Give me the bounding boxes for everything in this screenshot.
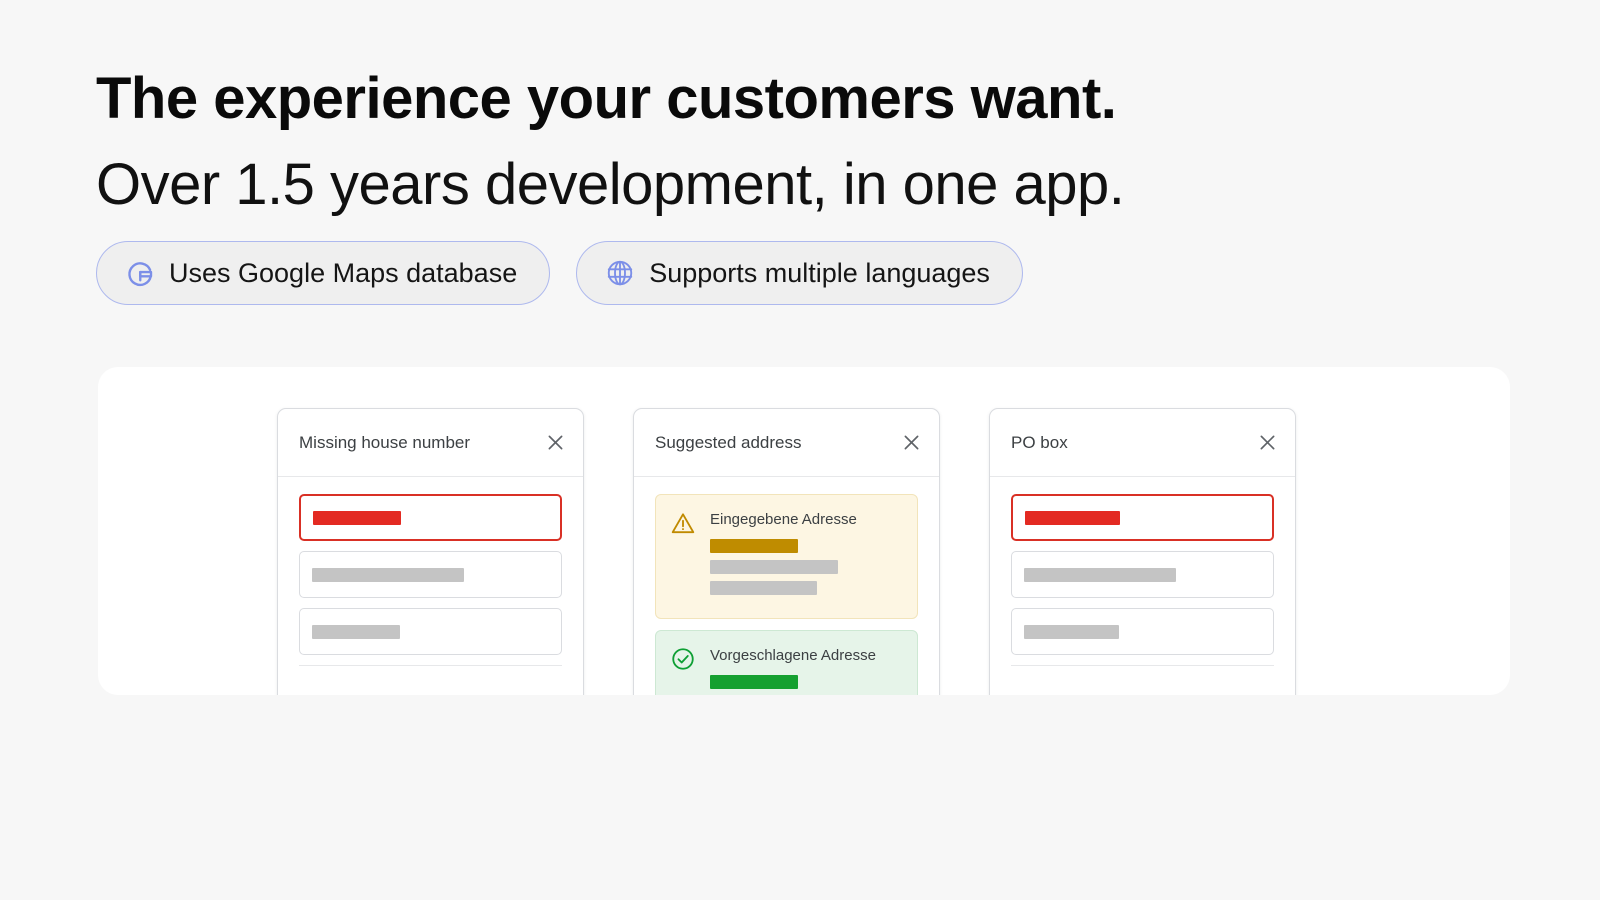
dialog-card-suggested-address: Suggested address — [633, 408, 940, 695]
showcase-panel: Missing house number — [98, 367, 1510, 695]
card-header: PO box — [990, 409, 1295, 477]
field-value-placeholder — [313, 511, 401, 525]
alert-content: Vorgeschlagene Adresse — [710, 645, 901, 695]
alert-entered-address[interactable]: Eingegebene Adresse — [655, 494, 918, 619]
card-body: Eingegebene Adresse — [634, 477, 939, 695]
input-field-error[interactable] — [299, 494, 562, 541]
card-title: Suggested address — [655, 433, 802, 453]
dialog-card-po-box: PO box — [989, 408, 1296, 695]
close-icon[interactable] — [1257, 432, 1278, 453]
feature-pill-group: Uses Google Maps database Supports multi… — [96, 241, 1023, 305]
alert-suggested-address[interactable]: Vorgeschlagene Adresse — [655, 630, 918, 695]
input-field-error[interactable] — [1011, 494, 1274, 541]
alert-title: Vorgeschlagene Adresse — [710, 647, 901, 664]
card-title: PO box — [1011, 433, 1068, 453]
input-field[interactable] — [1011, 608, 1274, 655]
input-field[interactable] — [1011, 551, 1274, 598]
card-body — [990, 477, 1295, 695]
field-value-placeholder — [312, 568, 464, 582]
input-field[interactable] — [299, 551, 562, 598]
card-title: Missing house number — [299, 433, 470, 453]
pill-supports-multiple-languages[interactable]: Supports multiple languages — [576, 241, 1023, 305]
check-circle-icon — [670, 646, 696, 672]
close-icon[interactable] — [901, 432, 922, 453]
alert-title: Eingegebene Adresse — [710, 511, 901, 528]
field-value-placeholder — [1024, 625, 1119, 639]
headline-line-2: Over 1.5 years development, in one app. — [96, 142, 1396, 228]
dialog-card-group: Missing house number — [277, 408, 1296, 695]
pill-label: Supports multiple languages — [649, 258, 990, 289]
address-line-placeholder — [710, 560, 838, 574]
address-line-placeholder — [710, 539, 798, 553]
card-footer-divider — [1011, 665, 1274, 695]
card-footer-divider — [299, 665, 562, 695]
google-g-icon — [125, 258, 155, 288]
input-field[interactable] — [299, 608, 562, 655]
address-line-placeholder — [710, 675, 798, 689]
field-value-placeholder — [312, 625, 400, 639]
card-header: Missing house number — [278, 409, 583, 477]
headline-block: The experience your customers want. Over… — [96, 56, 1396, 228]
field-value-placeholder — [1024, 568, 1176, 582]
card-header: Suggested address — [634, 409, 939, 477]
pill-uses-google-maps-database[interactable]: Uses Google Maps database — [96, 241, 550, 305]
globe-icon — [605, 258, 635, 288]
alert-content: Eingegebene Adresse — [710, 509, 901, 602]
page-root: The experience your customers want. Over… — [0, 0, 1600, 900]
warning-triangle-icon — [670, 510, 696, 536]
dialog-card-missing-house-number: Missing house number — [277, 408, 584, 695]
address-line-placeholder — [710, 581, 817, 595]
field-value-placeholder — [1025, 511, 1120, 525]
pill-label: Uses Google Maps database — [169, 258, 517, 289]
card-body — [278, 477, 583, 695]
close-icon[interactable] — [545, 432, 566, 453]
headline-line-1: The experience your customers want. — [96, 56, 1396, 142]
